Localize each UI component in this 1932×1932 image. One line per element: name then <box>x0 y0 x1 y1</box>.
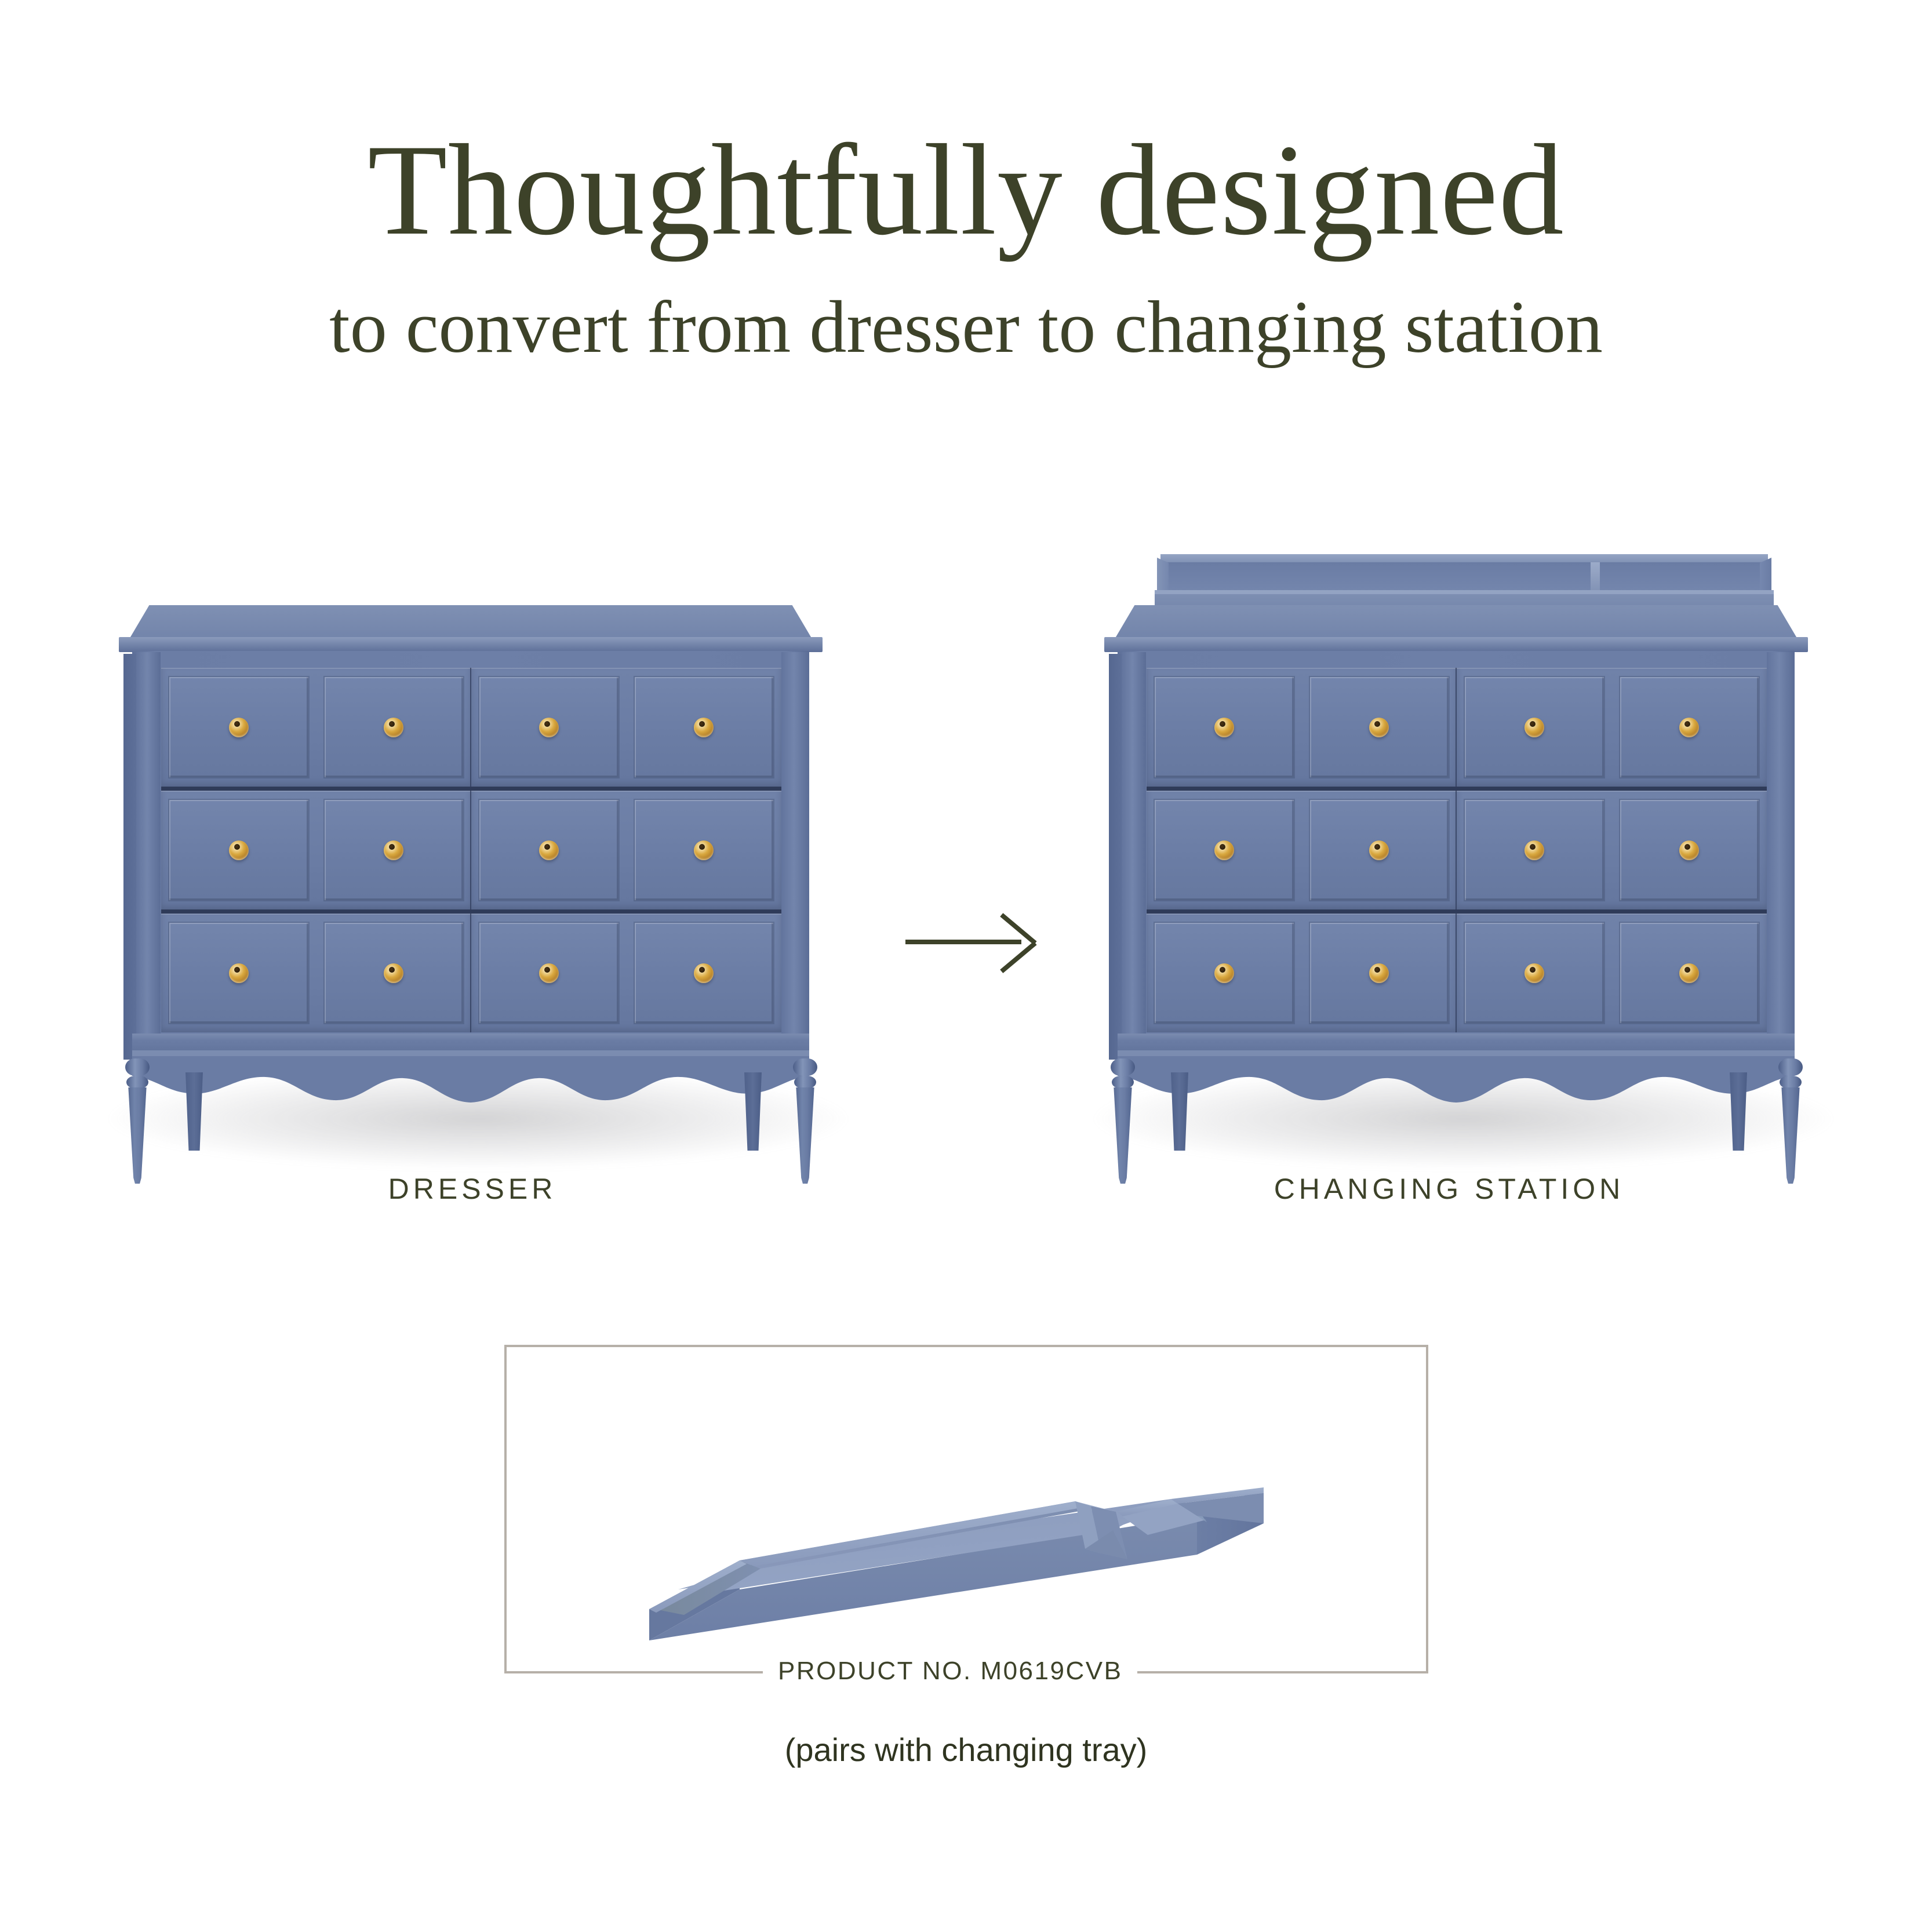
drawer-panel[interactable] <box>635 800 774 900</box>
dresser-scalloped-skirt <box>132 1050 809 1115</box>
changing-station-caption: CHANGING STATION <box>974 1172 1924 1206</box>
leg-taper <box>1113 1087 1133 1184</box>
drawer-panel[interactable] <box>169 923 308 1023</box>
drawer-panel[interactable] <box>1465 923 1604 1023</box>
brass-knob-icon[interactable] <box>694 963 714 983</box>
changing-station-top-lip <box>1104 637 1808 652</box>
brass-knob-icon[interactable] <box>1679 963 1699 983</box>
drawer-unit[interactable] <box>471 791 781 909</box>
drawer-panel[interactable] <box>325 923 464 1023</box>
leg-taper <box>1781 1087 1800 1184</box>
leg-taper <box>128 1087 147 1184</box>
dresser-leg-front-left <box>124 1056 151 1184</box>
drawer-panel[interactable] <box>1465 800 1604 900</box>
brass-knob-icon[interactable] <box>1214 963 1234 983</box>
drawer-panel[interactable] <box>169 677 308 777</box>
dresser-drawer-row <box>161 914 781 1032</box>
brass-knob-icon[interactable] <box>1679 841 1699 860</box>
drawer-unit[interactable] <box>161 791 471 909</box>
changing-station-drawer-row <box>1147 791 1767 909</box>
brass-knob-icon[interactable] <box>1369 963 1389 983</box>
drawer-unit[interactable] <box>161 668 471 787</box>
drawer-panel[interactable] <box>1310 800 1449 900</box>
brass-knob-icon[interactable] <box>539 718 559 737</box>
drawer-panel[interactable] <box>1155 800 1294 900</box>
page-title: Thoughtfully designed <box>0 125 1932 255</box>
leg-collar <box>794 1076 816 1089</box>
page-subtitle: to convert from dresser to changing stat… <box>0 290 1932 364</box>
brass-knob-icon[interactable] <box>1525 718 1544 737</box>
drawer-unit[interactable] <box>471 668 781 787</box>
drawer-unit[interactable] <box>1457 668 1767 787</box>
drawer-panel[interactable] <box>325 677 464 777</box>
drawer-row-gap <box>161 787 781 791</box>
dresser-leg-front-right <box>792 1056 818 1184</box>
arrow-shaft <box>905 940 1021 944</box>
leg-taper <box>795 1087 815 1184</box>
dresser-top-surface <box>129 605 813 640</box>
drawer-panel[interactable] <box>1155 677 1294 777</box>
drawer-row-gap <box>1147 909 1767 914</box>
brass-knob-icon[interactable] <box>229 718 249 737</box>
drawer-panel[interactable] <box>1620 677 1759 777</box>
leg-collar <box>1778 1058 1803 1076</box>
drawer-unit[interactable] <box>1457 791 1767 909</box>
brass-knob-icon[interactable] <box>1525 841 1544 860</box>
arrow-head-upper <box>1000 941 1036 973</box>
tray-front-top-edge <box>1155 590 1774 594</box>
drawer-panel[interactable] <box>1310 923 1449 1023</box>
changing-station-leg-front-left <box>1109 1056 1136 1184</box>
product-number-label: PRODUCT NO. M0619CVB <box>763 1657 1137 1686</box>
pairs-with-note: (pairs with changing tray) <box>0 1731 1932 1769</box>
brass-knob-icon[interactable] <box>694 841 714 860</box>
dresser-drawer-row <box>161 791 781 909</box>
brass-knob-icon[interactable] <box>1525 963 1544 983</box>
dresser-left-stile <box>136 652 161 1058</box>
changing-station-right-stile <box>1767 652 1795 1058</box>
drawer-unit[interactable] <box>1147 668 1457 787</box>
brass-knob-icon[interactable] <box>384 841 403 860</box>
brass-knob-icon[interactable] <box>384 963 403 983</box>
drawer-row-gap <box>1147 787 1767 791</box>
dresser-right-stile <box>781 652 809 1058</box>
brass-knob-icon[interactable] <box>229 963 249 983</box>
changing-station-drawer-row <box>1147 914 1767 1032</box>
brass-knob-icon[interactable] <box>1369 841 1389 860</box>
drawer-panel[interactable] <box>479 800 618 900</box>
brass-knob-icon[interactable] <box>1214 841 1234 860</box>
drawer-row-gap <box>161 909 781 914</box>
drawer-panel[interactable] <box>1155 923 1294 1023</box>
changing-tray-illustration[interactable] <box>591 1385 1345 1652</box>
drawer-panel[interactable] <box>479 677 618 777</box>
drawer-panel[interactable] <box>325 800 464 900</box>
infographic-page: Thoughtfully designed to convert from dr… <box>0 0 1932 1932</box>
drawer-panel[interactable] <box>635 923 774 1023</box>
brass-knob-icon[interactable] <box>539 963 559 983</box>
changing-station-scalloped-skirt <box>1118 1050 1795 1115</box>
drawer-unit[interactable] <box>1457 914 1767 1032</box>
leg-collar <box>1111 1058 1135 1076</box>
drawer-panel[interactable] <box>1310 677 1449 777</box>
brass-knob-icon[interactable] <box>384 718 403 737</box>
leg-collar <box>793 1058 817 1076</box>
drawer-unit[interactable] <box>1147 914 1457 1032</box>
brass-knob-icon[interactable] <box>229 841 249 860</box>
changing-station-drawer-row <box>1147 668 1767 787</box>
drawer-panel[interactable] <box>1620 923 1759 1023</box>
leg-collar <box>1780 1076 1802 1089</box>
leg-collar <box>125 1058 150 1076</box>
changing-station-left-stile <box>1122 652 1146 1058</box>
drawer-unit[interactable] <box>471 914 781 1032</box>
dresser-caption: DRESSER <box>0 1172 945 1206</box>
drawer-panel[interactable] <box>1465 677 1604 777</box>
drawer-unit[interactable] <box>1147 791 1457 909</box>
dresser-top-lip <box>119 637 823 652</box>
changing-station-leg-front-right <box>1777 1056 1804 1184</box>
brass-knob-icon[interactable] <box>694 718 714 737</box>
drawer-panel[interactable] <box>479 923 618 1023</box>
brass-knob-icon[interactable] <box>1679 718 1699 737</box>
changing-station-side-panel <box>1109 654 1122 1060</box>
brass-knob-icon[interactable] <box>1369 718 1389 737</box>
dresser-drawer-row <box>161 668 781 787</box>
leg-collar <box>126 1076 148 1089</box>
drawer-panel[interactable] <box>1620 800 1759 900</box>
arrow-right-icon <box>905 919 1033 965</box>
brass-knob-icon[interactable] <box>1214 718 1234 737</box>
drawer-panel[interactable] <box>169 800 308 900</box>
dresser-side-panel <box>123 654 136 1060</box>
changing-station-top-surface <box>1114 605 1798 640</box>
brass-knob-icon[interactable] <box>539 841 559 860</box>
leg-collar <box>1112 1076 1134 1089</box>
drawer-panel[interactable] <box>635 677 774 777</box>
drawer-unit[interactable] <box>161 914 471 1032</box>
